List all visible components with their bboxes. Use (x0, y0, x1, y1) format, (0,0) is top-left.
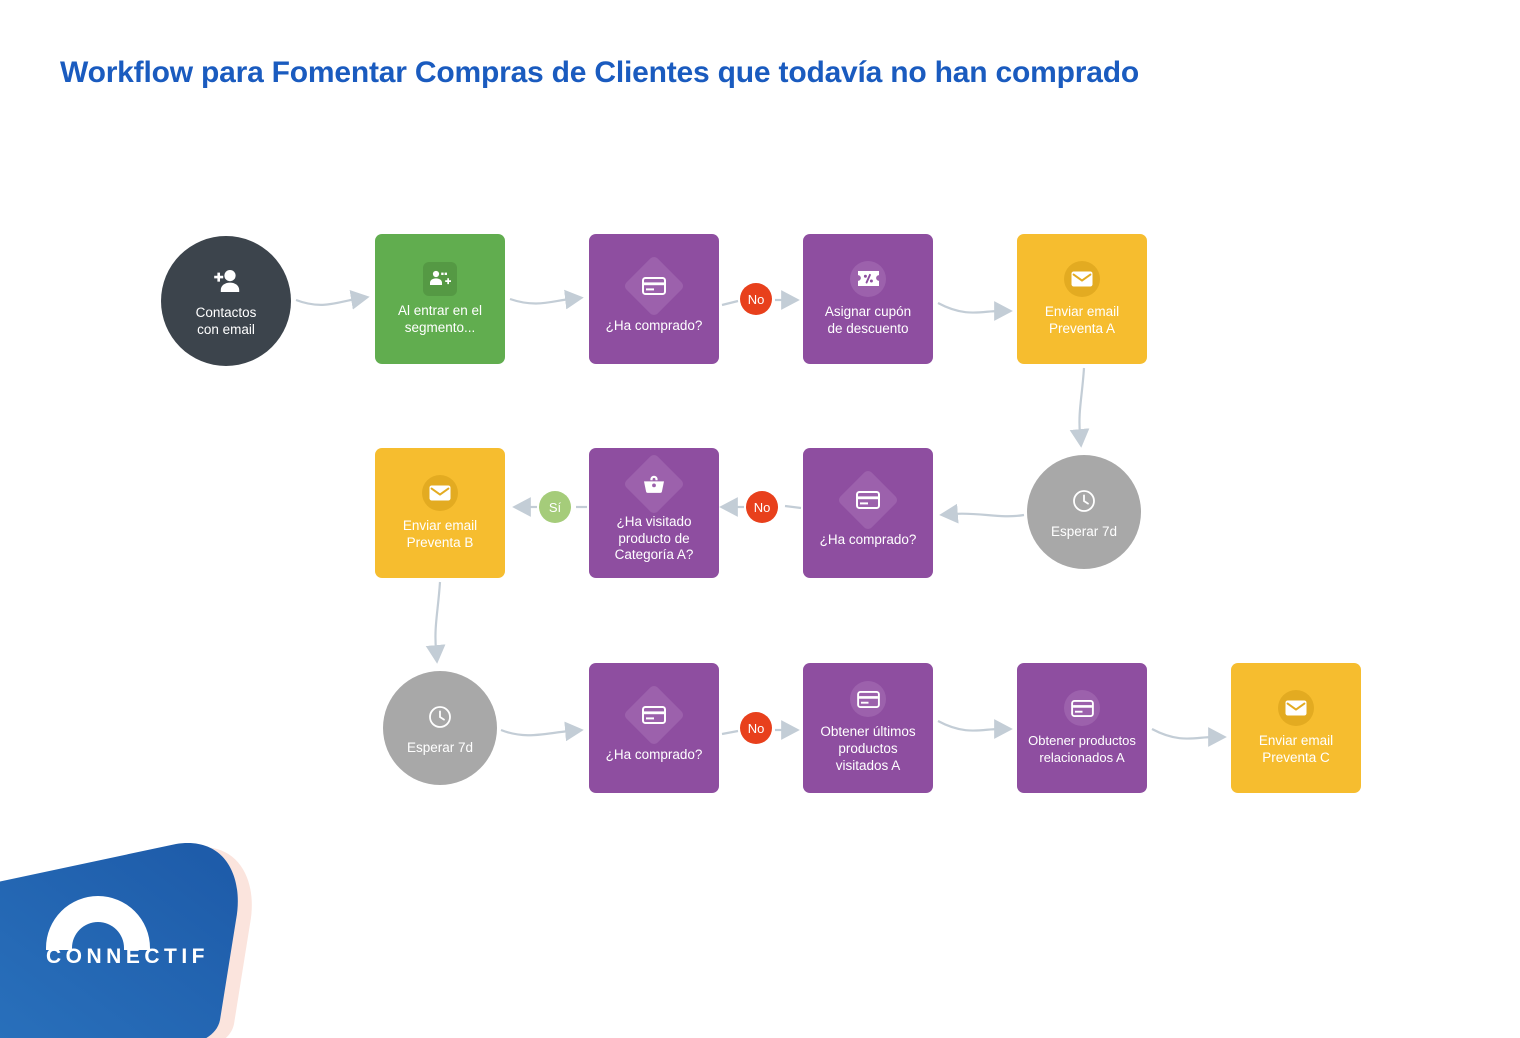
envelope-icon-backdrop (1278, 690, 1314, 726)
node-label: ¿Ha visitado producto de Categoría A? (609, 514, 700, 565)
basket-icon (643, 474, 665, 494)
envelope-icon (429, 485, 451, 501)
segment-icon-wrap (423, 262, 457, 296)
segment-icon (429, 270, 451, 288)
node-contactos-con-email[interactable]: Contactos con email (161, 236, 291, 366)
decision-diamond-backdrop (623, 254, 685, 316)
node-obtener-ultimos-productos-visitados-a[interactable]: Obtener últimos productos visitados A (803, 663, 933, 793)
decision-diamond-backdrop (623, 683, 685, 745)
node-obtener-productos-relacionados-a[interactable]: Obtener productos relacionados A (1017, 663, 1147, 793)
decision-diamond-backdrop (623, 453, 685, 515)
clock-icon-wrap (423, 700, 457, 734)
node-ha-comprado-1[interactable]: ¿Ha comprado? (589, 234, 719, 364)
envelope-icon-wrap (1278, 690, 1314, 726)
connector-esperar7d1-to-hacomprado2 (953, 514, 1024, 517)
clock-icon (423, 700, 457, 734)
coupon-percent-icon (857, 270, 880, 287)
node-label: Al entrar en el segmento... (392, 303, 488, 337)
node-asignar-cupon-de-descuento[interactable]: Asignar cupón de descuento (803, 234, 933, 364)
envelope-icon (1285, 700, 1307, 716)
node-label: Asignar cupón de descuento (819, 304, 917, 338)
credit-card-icon-wrap (850, 681, 886, 717)
user-add-icon (209, 264, 243, 298)
connector-segmento-to-hacomprado1 (510, 299, 570, 303)
node-label: Esperar 7d (1045, 524, 1123, 541)
connector-contactos-to-segmento (296, 299, 356, 305)
node-esperar-7d-2[interactable]: Esperar 7d (383, 671, 497, 785)
connector-emailb-to-esperar7d2 (435, 582, 440, 650)
node-enviar-email-preventa-c[interactable]: Enviar email Preventa C (1231, 663, 1361, 793)
node-esperar-7d-1[interactable]: Esperar 7d (1027, 455, 1141, 569)
credit-card-icon-backdrop (850, 681, 886, 717)
node-enviar-email-preventa-b[interactable]: Enviar email Preventa B (375, 448, 505, 578)
clock-icon (1067, 484, 1101, 518)
node-label: Esperar 7d (401, 740, 479, 757)
node-label: Enviar email Preventa C (1253, 733, 1339, 767)
node-label: ¿Ha comprado? (600, 747, 709, 764)
diagram-canvas: Workflow para Fomentar Compras de Client… (0, 0, 1520, 1026)
badge-label: No (748, 292, 765, 307)
node-al-entrar-en-el-segmento[interactable]: Al entrar en el segmento... (375, 234, 505, 364)
connector-hacomprado2-to-badgeno2 (785, 506, 801, 508)
envelope-icon (1071, 271, 1093, 287)
node-label: ¿Ha comprado? (814, 532, 923, 549)
credit-card-icon (642, 277, 666, 295)
credit-card-icon-wrap (846, 478, 890, 522)
credit-card-icon (856, 491, 880, 509)
credit-card-icon-wrap (632, 264, 676, 308)
connector-hacomprado1-to-badgeno1 (722, 301, 738, 305)
node-label: Contactos con email (190, 305, 263, 339)
connector-cupon-to-emaila (938, 303, 999, 313)
page-title: Workflow para Fomentar Compras de Client… (60, 56, 1139, 90)
logo-wordmark: CONNECTIF (46, 945, 209, 969)
connector-obtenerultimos-to-obtenerrelacionados (938, 721, 999, 731)
node-label: Enviar email Preventa B (397, 518, 483, 552)
node-ha-visitado-producto-categoria-a[interactable]: ¿Ha visitado producto de Categoría A? (589, 448, 719, 578)
envelope-icon-backdrop (422, 475, 458, 511)
coupon-percent-icon-wrap (850, 261, 886, 297)
decision-diamond-backdrop (837, 468, 899, 530)
node-ha-comprado-2[interactable]: ¿Ha comprado? (803, 448, 933, 578)
node-label: Obtener últimos productos visitados A (814, 724, 921, 775)
user-add-icon-wrap (209, 264, 243, 298)
credit-card-icon-backdrop (1064, 690, 1100, 726)
badge-no-2[interactable]: No (746, 491, 778, 523)
node-label: Obtener productos relacionados A (1022, 733, 1142, 766)
clock-icon-wrap (1067, 484, 1101, 518)
segment-icon-backdrop (423, 262, 457, 296)
coupon-icon-backdrop (850, 261, 886, 297)
envelope-icon-wrap (422, 475, 458, 511)
basket-icon-wrap (632, 462, 676, 506)
connector-obtenerrelacionados-to-emailc (1152, 729, 1213, 739)
envelope-icon-backdrop (1064, 261, 1100, 297)
logo-shape (0, 843, 238, 1038)
node-label: ¿Ha comprado? (600, 318, 709, 335)
badge-no-3[interactable]: No (740, 712, 772, 744)
connector-hacomprado3-to-badgeno3 (722, 731, 738, 734)
node-label: Enviar email Preventa A (1039, 304, 1125, 338)
credit-card-icon-wrap (632, 693, 676, 737)
envelope-icon-wrap (1064, 261, 1100, 297)
badge-label: No (748, 721, 765, 736)
credit-card-icon-wrap (1064, 690, 1100, 726)
node-ha-comprado-3[interactable]: ¿Ha comprado? (589, 663, 719, 793)
badge-yes-1[interactable]: Sí (539, 491, 571, 523)
badge-label: Sí (549, 500, 561, 515)
credit-card-icon (1071, 700, 1094, 717)
connector-esperar7d2-to-hacomprado3 (501, 730, 570, 735)
credit-card-icon (642, 706, 666, 724)
connectif-logo (0, 838, 268, 1038)
badge-label: No (754, 500, 771, 515)
credit-card-icon (857, 691, 880, 708)
connector-emaila-to-esperar7d1 (1079, 368, 1084, 434)
badge-no-1[interactable]: No (740, 283, 772, 315)
node-enviar-email-preventa-a[interactable]: Enviar email Preventa A (1017, 234, 1147, 364)
